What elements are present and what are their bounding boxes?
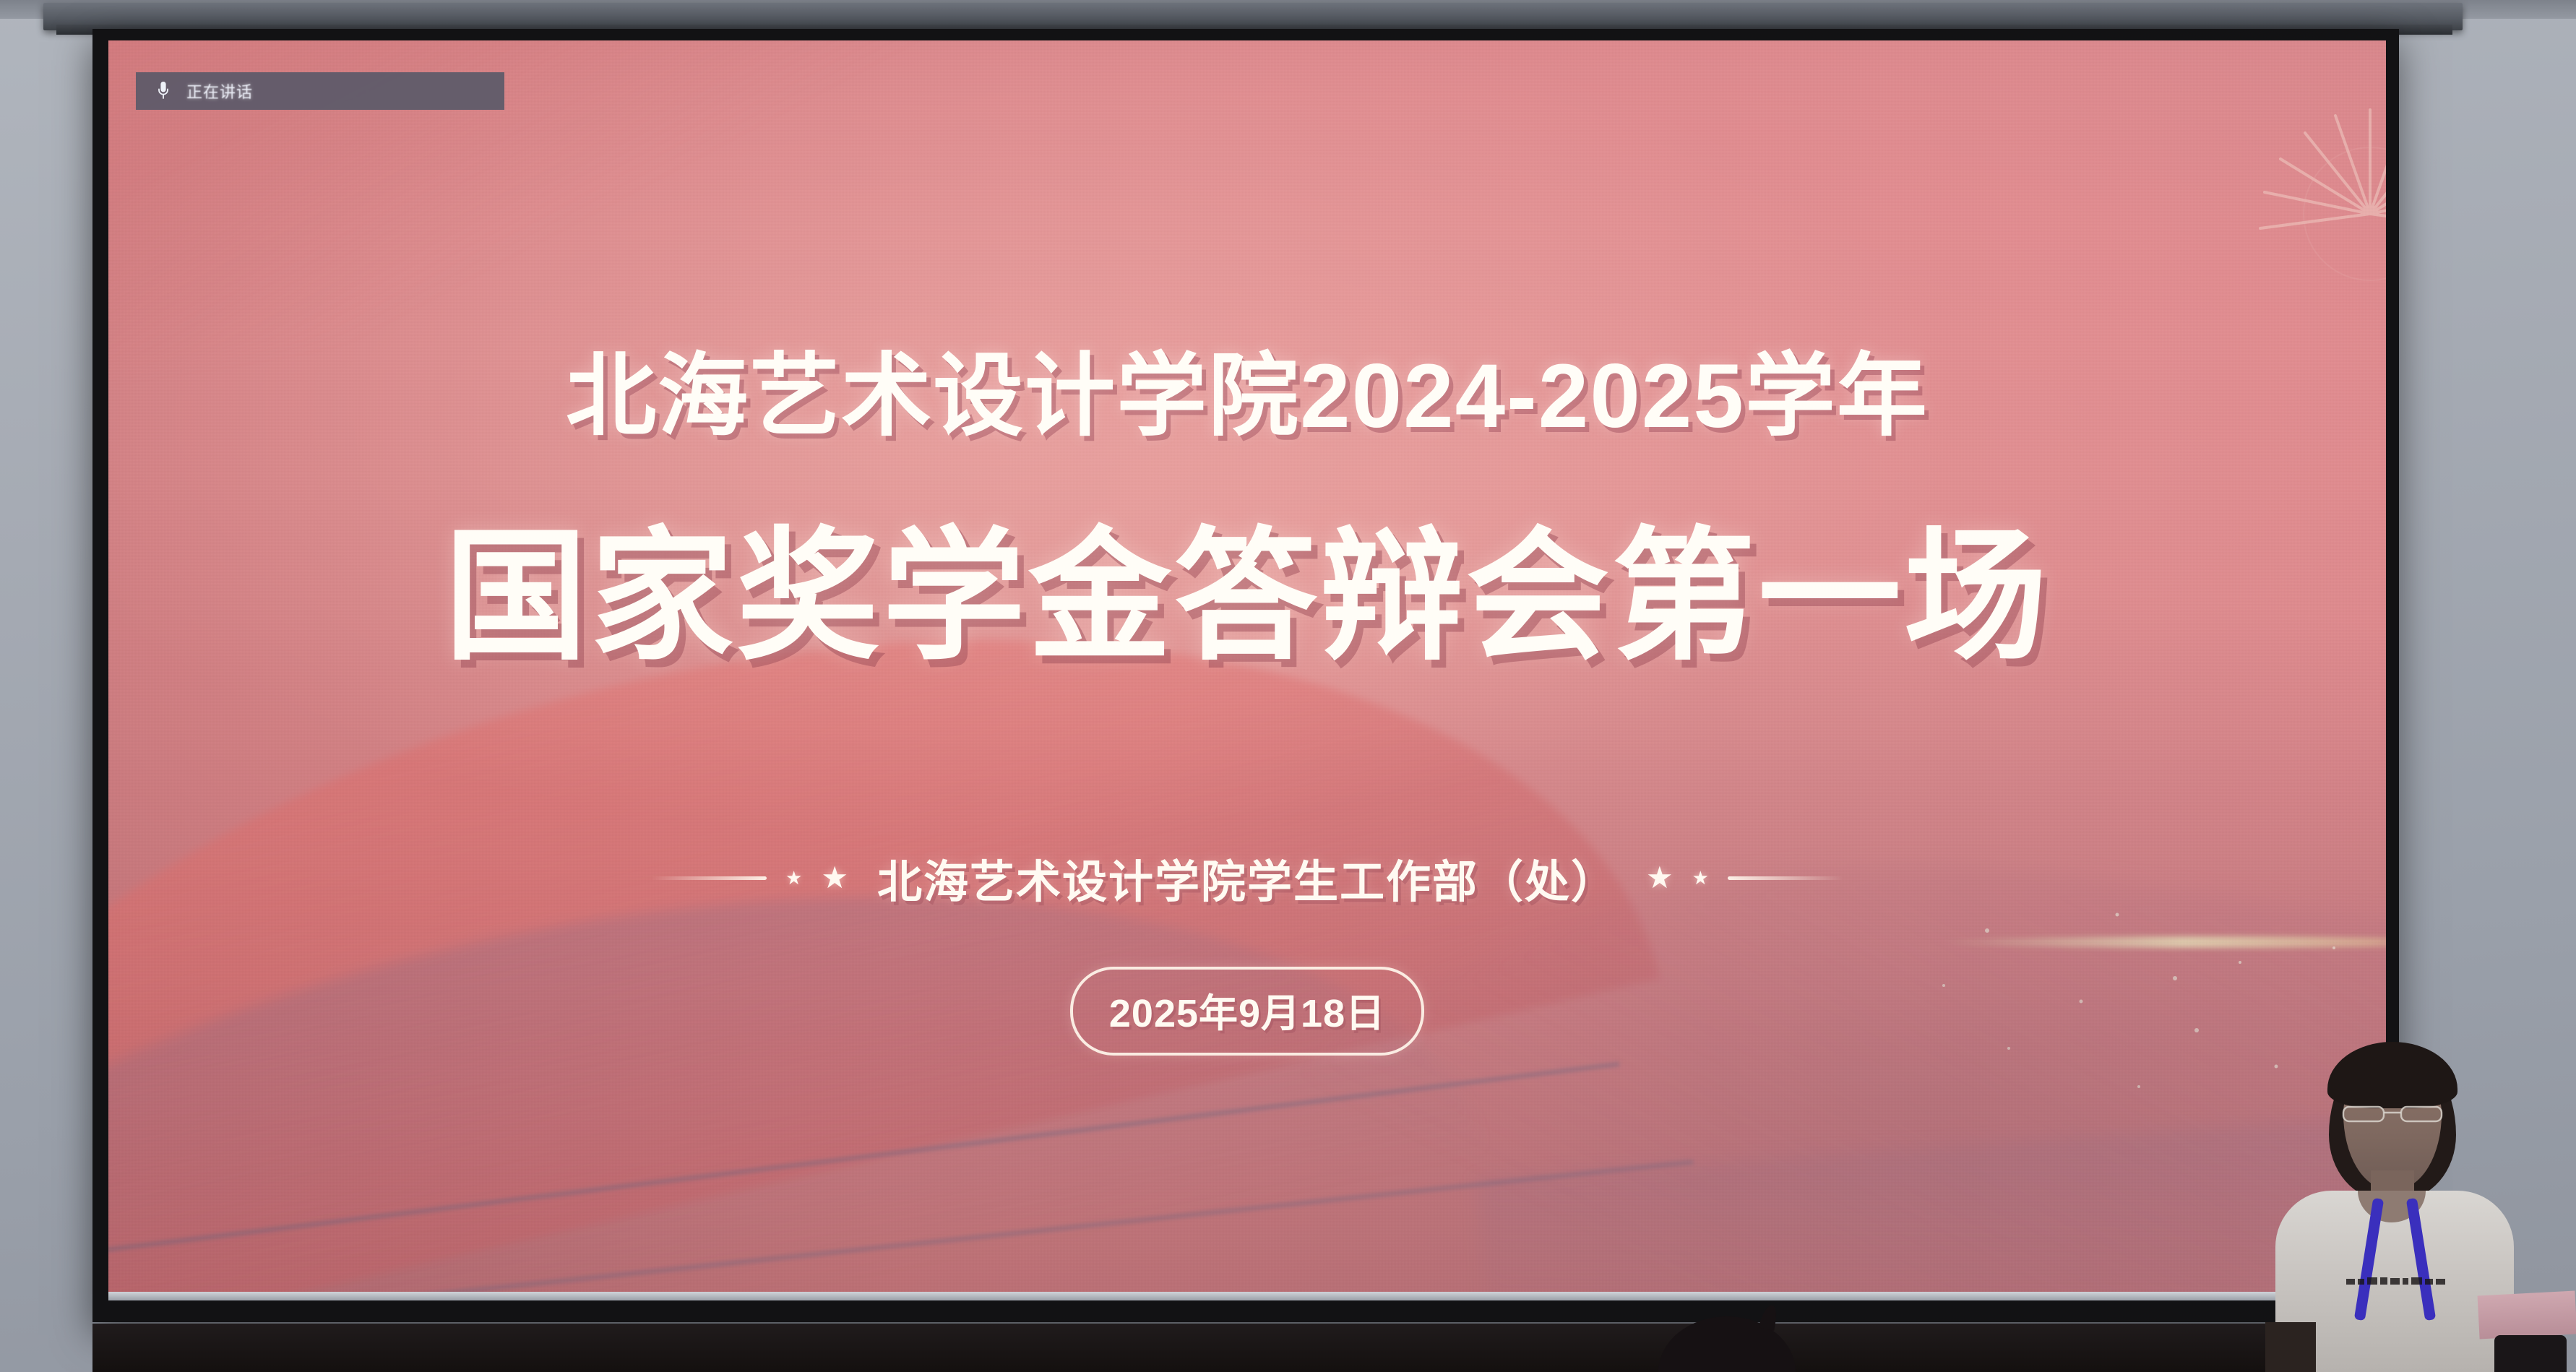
slide-content: 北海艺术设计学院2024-2025学年 国家奖学金答辩会第一场 ★ ★ 北海艺术… <box>108 40 2386 1292</box>
speaking-status-bar: 正在讲话 <box>136 72 504 110</box>
slide-subtitle-row: ★ ★ 北海艺术设计学院学生工作部（处） ★ ★ <box>651 845 1843 910</box>
paper-stack <box>2478 1291 2576 1339</box>
slide-title-line-1: 北海艺术设计学院2024-2025学年 <box>566 322 1929 453</box>
subtitle-rule-left <box>651 876 767 880</box>
star-small-right-icon: ★ <box>1692 868 1709 887</box>
screen-bottom-lip <box>108 1292 2386 1300</box>
desk-front-edge <box>92 1324 2399 1372</box>
star-large-left-icon: ★ <box>821 863 848 893</box>
lanyard-strap-right <box>2406 1198 2436 1321</box>
star-large-right-icon: ★ <box>1646 863 1673 893</box>
conference-room-scene: 北海艺术设计学院2024-2025学年 国家奖学金答辩会第一场 ★ ★ 北海艺术… <box>0 0 2576 1372</box>
microphone-icon <box>156 80 171 102</box>
speaking-status-label: 正在讲话 <box>186 79 253 103</box>
subtitle-rule-right <box>1728 876 1843 880</box>
phone-device <box>2494 1335 2567 1372</box>
star-small-left-icon: ★ <box>785 868 802 887</box>
projection-screen-frame: 北海艺术设计学院2024-2025学年 国家奖学金答辩会第一场 ★ ★ 北海艺术… <box>92 29 2399 1322</box>
slide-subtitle: 北海艺术设计学院学生工作部（处） <box>867 845 1627 910</box>
slide-title-line-2: 国家奖学金答辩会第一场 <box>444 480 2050 688</box>
slide-date-badge: 2025年9月18日 <box>1070 967 1424 1056</box>
projection-screen-surface: 北海艺术设计学院2024-2025学年 国家奖学金答辩会第一场 ★ ★ 北海艺术… <box>108 40 2386 1292</box>
